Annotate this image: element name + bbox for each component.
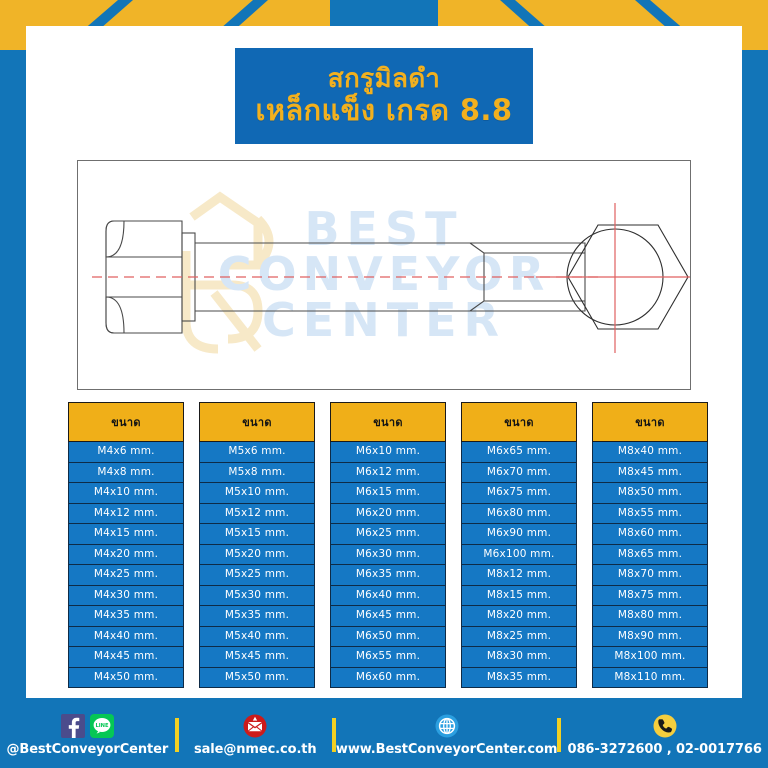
table-row[interactable]: M4x40 mm. [68, 627, 184, 648]
table-row[interactable]: M6x30 mm. [330, 545, 446, 566]
table-row[interactable]: M5x40 mm. [199, 627, 315, 648]
table-row[interactable]: M6x80 mm. [461, 504, 577, 525]
globe-icon[interactable] [435, 714, 459, 738]
table-row[interactable]: M8x50 mm. [592, 483, 708, 504]
table-row[interactable]: M6x90 mm. [461, 524, 577, 545]
product-drawing-frame: BEST CONVEYOR CENTER [77, 160, 691, 390]
table-row[interactable]: M5x30 mm. [199, 586, 315, 607]
table-row[interactable]: M5x8 mm. [199, 463, 315, 484]
table-row[interactable]: M6x10 mm. [330, 442, 446, 463]
size-table-column-4: ขนาด M6x65 mm. M6x70 mm. M6x75 mm. M6x80… [461, 402, 577, 688]
size-tables: ขนาด M4x6 mm. M4x8 mm. M4x10 mm. M4x12 m… [68, 402, 708, 688]
table-row[interactable]: M6x65 mm. [461, 442, 577, 463]
table-row[interactable]: M4x8 mm. [68, 463, 184, 484]
page-title-line1: สกรูมิลดำ [328, 65, 441, 94]
phone-icon[interactable] [653, 714, 677, 738]
table-row[interactable]: M8x100 mm. [592, 647, 708, 668]
facebook-icon[interactable] [61, 714, 85, 738]
table-row[interactable]: M8x80 mm. [592, 606, 708, 627]
table-row[interactable]: M8x20 mm. [461, 606, 577, 627]
size-table-column-1: ขนาด M4x6 mm. M4x8 mm. M4x10 mm. M4x12 m… [68, 402, 184, 688]
table-row[interactable]: M8x75 mm. [592, 586, 708, 607]
phone-icon-group [653, 713, 677, 739]
page-title-line2: เหล็กแข็ง เกรด 8.8 [256, 94, 513, 126]
hex-bolt-drawing [78, 161, 691, 390]
table-row[interactable]: M8x25 mm. [461, 627, 577, 648]
email-icon[interactable] [243, 714, 267, 738]
table-row[interactable]: M5x12 mm. [199, 504, 315, 525]
table-row[interactable]: M8x65 mm. [592, 545, 708, 566]
table-row[interactable]: M6x70 mm. [461, 463, 577, 484]
phone-numbers[interactable]: 086-3272600 , 02-0017766 [568, 742, 762, 757]
table-row[interactable]: M8x30 mm. [461, 647, 577, 668]
column-header: ขนาด [592, 402, 708, 442]
table-row[interactable]: M4x15 mm. [68, 524, 184, 545]
website-url[interactable]: www.BestConveyorCenter.com [336, 742, 557, 757]
table-row[interactable]: M6x60 mm. [330, 668, 446, 689]
table-row[interactable]: M5x20 mm. [199, 545, 315, 566]
table-row[interactable]: M8x12 mm. [461, 565, 577, 586]
table-row[interactable]: M5x15 mm. [199, 524, 315, 545]
table-row[interactable]: M8x60 mm. [592, 524, 708, 545]
table-row[interactable]: M5x45 mm. [199, 647, 315, 668]
footer-item-website[interactable]: www.BestConveyorCenter.com [336, 713, 557, 757]
table-row[interactable]: M4x12 mm. [68, 504, 184, 525]
column-header: ขนาด [68, 402, 184, 442]
size-table-column-3: ขนาด M6x10 mm. M6x12 mm. M6x15 mm. M6x20… [330, 402, 446, 688]
table-row[interactable]: M6x35 mm. [330, 565, 446, 586]
table-row[interactable]: M6x25 mm. [330, 524, 446, 545]
table-row[interactable]: M8x55 mm. [592, 504, 708, 525]
table-row[interactable]: M5x25 mm. [199, 565, 315, 586]
table-row[interactable]: M4x20 mm. [68, 545, 184, 566]
table-row[interactable]: M6x100 mm. [461, 545, 577, 566]
footer-item-facebook[interactable]: LINE @BestConveyorCenter [0, 713, 175, 757]
table-row[interactable]: M8x40 mm. [592, 442, 708, 463]
table-row[interactable]: M5x35 mm. [199, 606, 315, 627]
social-icon-group: LINE [61, 713, 114, 739]
table-row[interactable]: M8x70 mm. [592, 565, 708, 586]
table-row[interactable]: M6x50 mm. [330, 627, 446, 648]
line-icon[interactable]: LINE [90, 714, 114, 738]
table-row[interactable]: M4x6 mm. [68, 442, 184, 463]
column-header: ขนาด [461, 402, 577, 442]
table-row[interactable]: M4x50 mm. [68, 668, 184, 689]
table-row[interactable]: M5x10 mm. [199, 483, 315, 504]
footer-item-phone[interactable]: 086-3272600 , 02-0017766 [561, 713, 768, 757]
table-row[interactable]: M4x10 mm. [68, 483, 184, 504]
svg-text:LINE: LINE [95, 723, 109, 729]
column-header: ขนาด [330, 402, 446, 442]
website-icon-group [435, 713, 459, 739]
table-row[interactable]: M6x45 mm. [330, 606, 446, 627]
table-row[interactable]: M5x6 mm. [199, 442, 315, 463]
email-address[interactable]: sale@nmec.co.th [194, 742, 317, 757]
table-row[interactable]: M8x35 mm. [461, 668, 577, 689]
table-row[interactable]: M5x50 mm. [199, 668, 315, 689]
table-row[interactable]: M4x30 mm. [68, 586, 184, 607]
facebook-handle[interactable]: @BestConveyorCenter [6, 742, 168, 757]
table-row[interactable]: M6x15 mm. [330, 483, 446, 504]
table-row[interactable]: M6x20 mm. [330, 504, 446, 525]
email-icon-group [243, 713, 267, 739]
table-row[interactable]: M4x25 mm. [68, 565, 184, 586]
page-title-banner: สกรูมิลดำ เหล็กแข็ง เกรด 8.8 [235, 48, 533, 144]
contact-footer: LINE @BestConveyorCenter sale@nmec.co.th [0, 702, 768, 768]
table-row[interactable]: M6x12 mm. [330, 463, 446, 484]
table-row[interactable]: M4x35 mm. [68, 606, 184, 627]
column-header: ขนาด [199, 402, 315, 442]
table-row[interactable]: M4x45 mm. [68, 647, 184, 668]
table-row[interactable]: M8x45 mm. [592, 463, 708, 484]
table-row[interactable]: M6x75 mm. [461, 483, 577, 504]
table-row[interactable]: M6x55 mm. [330, 647, 446, 668]
footer-item-email[interactable]: sale@nmec.co.th [179, 713, 332, 757]
table-row[interactable]: M8x15 mm. [461, 586, 577, 607]
table-row[interactable]: M8x110 mm. [592, 668, 708, 689]
size-table-column-2: ขนาด M5x6 mm. M5x8 mm. M5x10 mm. M5x12 m… [199, 402, 315, 688]
table-row[interactable]: M8x90 mm. [592, 627, 708, 648]
table-row[interactable]: M6x40 mm. [330, 586, 446, 607]
size-table-column-5: ขนาด M8x40 mm. M8x45 mm. M8x50 mm. M8x55… [592, 402, 708, 688]
